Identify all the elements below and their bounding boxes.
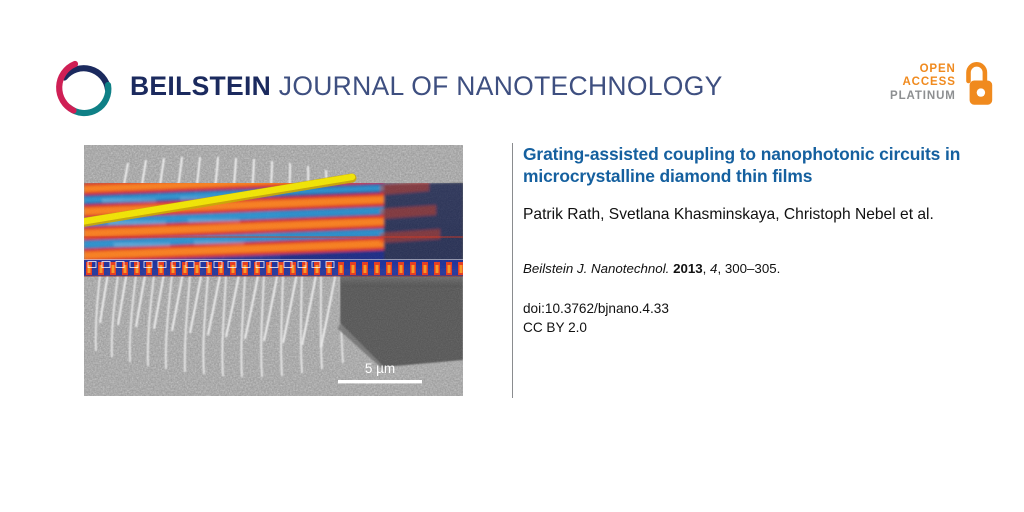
article-citation: Beilstein J. Nanotechnol. 2013, 4, 300–3… xyxy=(523,260,973,277)
sem-micrograph-grating-coupler: 5 µm xyxy=(84,145,463,396)
open-padlock-icon xyxy=(963,60,993,106)
scale-bar-label: 5 µm xyxy=(365,361,395,376)
article-metadata: Grating-assisted coupling to nanophotoni… xyxy=(523,143,973,338)
wordmark-journal-of-nanotechnology: JOURNAL OF NANOTECHNOLOGY xyxy=(279,71,723,101)
journal-wordmark: BEILSTEIN JOURNAL OF NANOTECHNOLOGY xyxy=(130,73,723,102)
article-license[interactable]: CC BY 2.0 xyxy=(523,318,973,338)
scale-bar xyxy=(338,380,422,383)
article-doi[interactable]: doi:10.3762/bjnano.4.33 xyxy=(523,299,973,319)
article-authors: Patrik Rath, Svetlana Khasminskaya, Chri… xyxy=(523,204,973,226)
column-divider xyxy=(512,143,513,398)
citation-year: 2013 xyxy=(673,261,703,276)
oa-line-access: ACCESS xyxy=(890,76,956,90)
oa-line-platinum: PLATINUM xyxy=(890,90,956,104)
wordmark-beilstein: BEILSTEIN xyxy=(130,71,271,101)
citation-pages: 300–305. xyxy=(725,261,780,276)
oa-line-open: OPEN xyxy=(890,63,956,77)
beilstein-spiral-logo-icon xyxy=(52,55,114,119)
open-access-label-stack: OPEN ACCESS PLATINUM xyxy=(890,63,956,104)
citation-sep-2: , xyxy=(703,261,710,276)
journal-brand-lockup[interactable]: BEILSTEIN JOURNAL OF NANOTECHNOLOGY xyxy=(52,55,723,119)
citation-journal: Beilstein J. Nanotechnol. xyxy=(523,261,669,276)
article-title[interactable]: Grating-assisted coupling to nanophotoni… xyxy=(523,143,973,187)
open-access-badge[interactable]: OPEN ACCESS PLATINUM xyxy=(890,60,993,106)
figure-panel[interactable]: 5 µm xyxy=(84,145,463,396)
masthead: BEILSTEIN JOURNAL OF NANOTECHNOLOGY OPEN… xyxy=(0,0,1024,132)
citation-sep-3: , xyxy=(717,261,724,276)
